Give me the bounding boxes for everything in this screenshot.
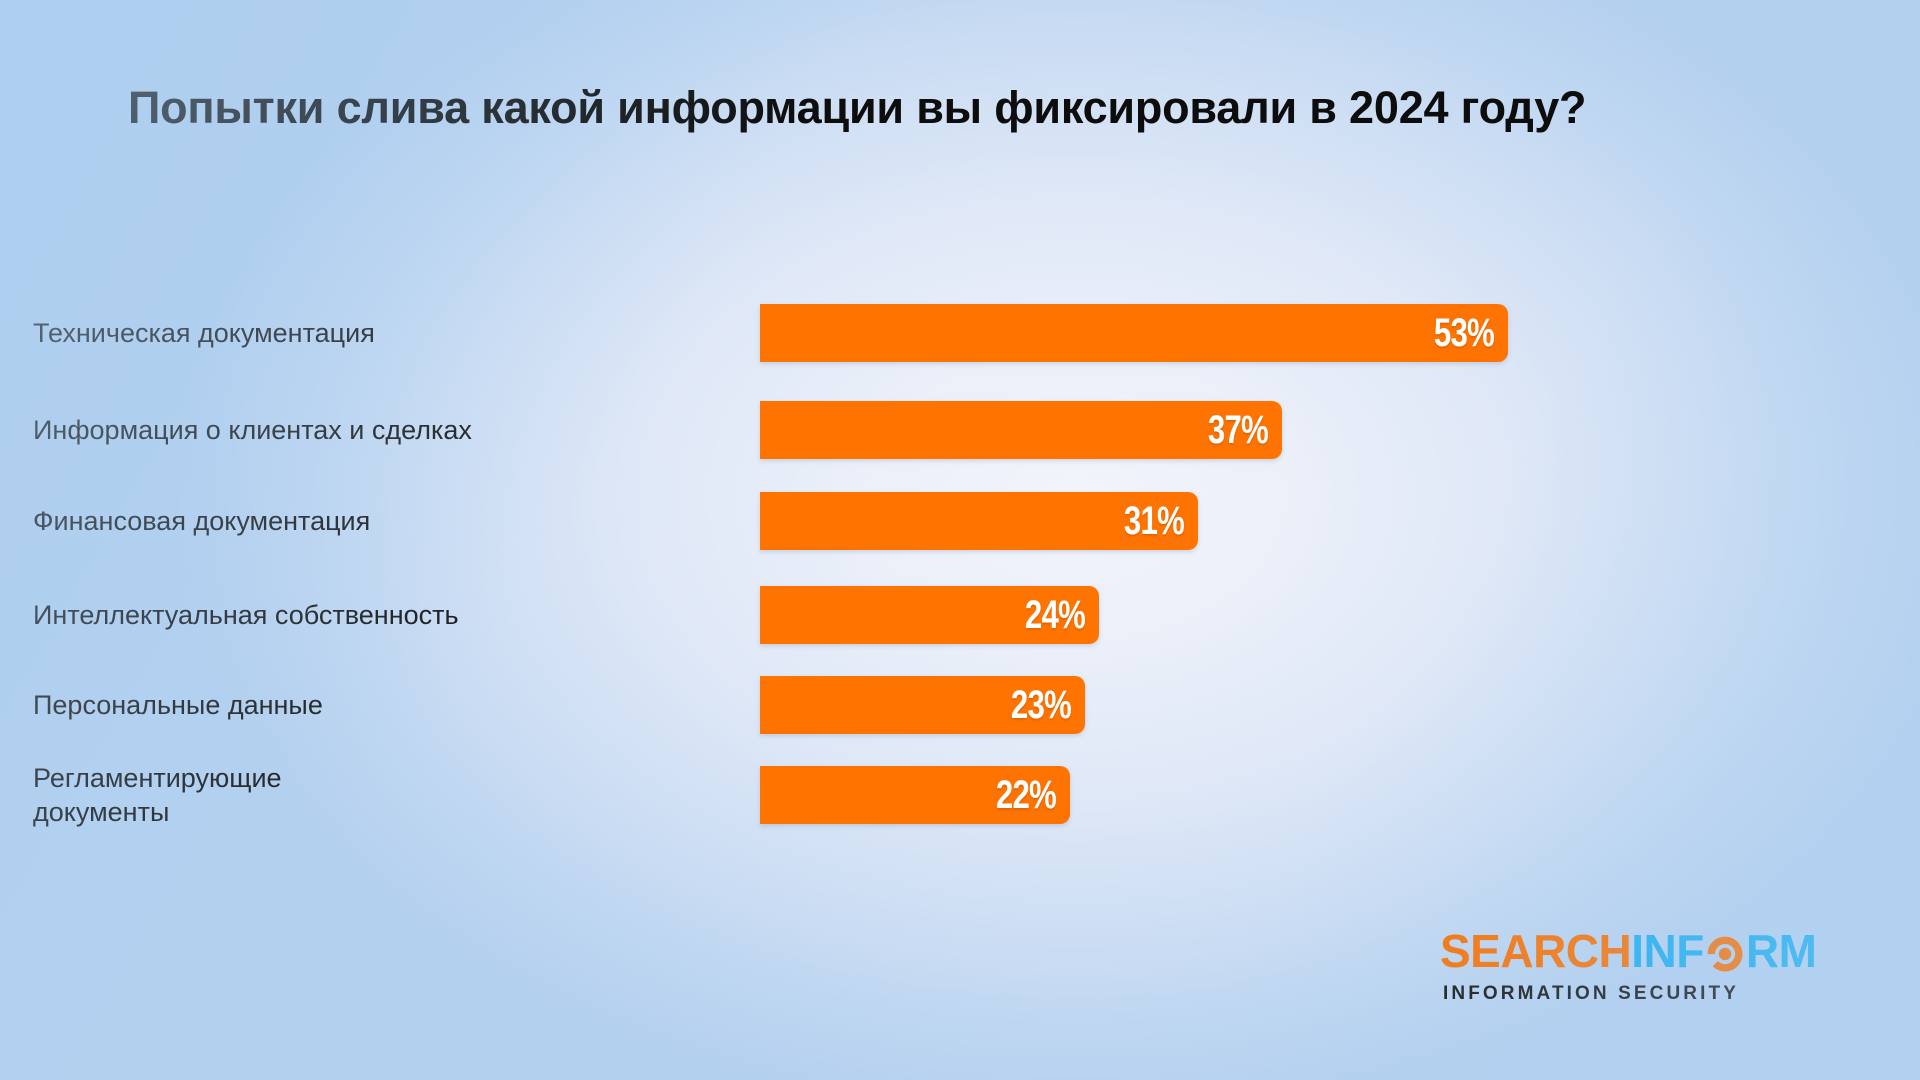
bar-value-label: 22% — [996, 773, 1070, 818]
bar-track: 24% — [760, 586, 1099, 644]
bar-category-label: Техническая документация — [33, 316, 733, 350]
bar-category-label: Информация о клиентах и сделках — [33, 413, 733, 447]
slide-canvas: Попытки слива какой информации вы фиксир… — [0, 0, 1920, 1080]
bar-track: 31% — [760, 492, 1198, 550]
bar-track: 37% — [760, 401, 1282, 459]
bar-track: 23% — [760, 676, 1085, 734]
bar-value-label: 37% — [1208, 408, 1282, 453]
bar-category-label: Финансовая документация — [33, 504, 733, 538]
bar-category-label: Регламентирующие документы — [33, 761, 733, 829]
page-title: Попытки слива какой информации вы фиксир… — [128, 78, 1598, 138]
logo-text-rm: RM — [1746, 925, 1817, 977]
bar-category-label: Интеллектуальная собственность — [33, 598, 733, 632]
bar-track: 22% — [760, 766, 1070, 824]
logo-tagline: INFORMATION SECURITY — [1443, 983, 1840, 1005]
bar: 31% — [760, 492, 1198, 550]
logo-text-search: SEARCH — [1440, 925, 1631, 977]
bar-value-label: 23% — [1011, 683, 1085, 728]
bar-track: 53% — [760, 304, 1508, 362]
magnifier-o-icon — [1705, 934, 1745, 974]
bar: 53% — [760, 304, 1508, 362]
bar: 24% — [760, 586, 1099, 644]
logo-wordmark: SEARCHINF RM — [1440, 925, 1840, 977]
searchinform-logo: SEARCHINF RM INFORMATION SECURITY — [1440, 925, 1840, 1005]
bar-category-label: Персональные данные — [33, 688, 733, 722]
bar: 37% — [760, 401, 1282, 459]
bar-value-label: 24% — [1025, 593, 1099, 638]
bar-value-label: 31% — [1124, 499, 1198, 544]
logo-text-inf: INF — [1631, 925, 1704, 977]
bar: 22% — [760, 766, 1070, 824]
bar-value-label: 53% — [1434, 311, 1508, 356]
bar: 23% — [760, 676, 1085, 734]
